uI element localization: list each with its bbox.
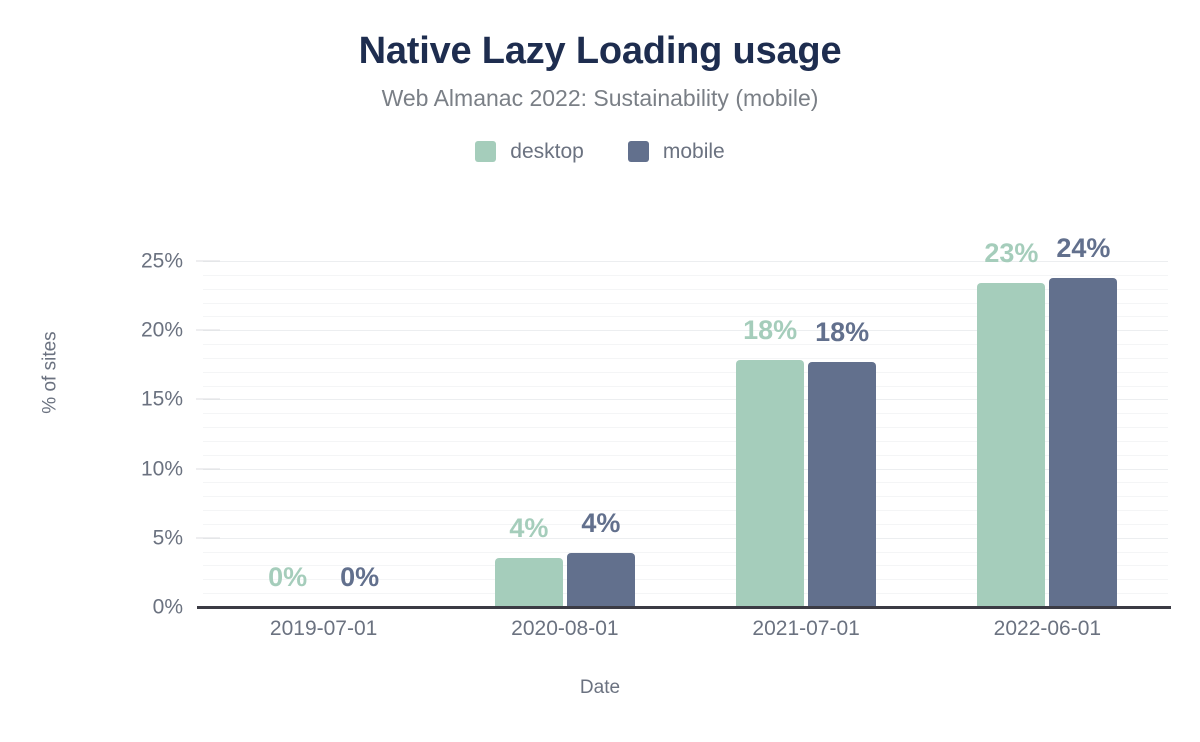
plot-area: 0%0%4%4%18%18%23%24%: [203, 261, 1168, 607]
bar-label-desktop-2022-06-01: 23%: [984, 240, 1038, 267]
y-axis-title: % of sites: [41, 303, 60, 443]
y-tick-label: 5%: [63, 527, 183, 548]
y-tick-label: 25%: [63, 251, 183, 272]
y-tick-mark: [196, 537, 220, 538]
x-tick-label: 2022-06-01: [994, 618, 1101, 639]
x-tick-label: 2021-07-01: [752, 618, 859, 639]
y-tick-label: 10%: [63, 458, 183, 479]
bar-label-mobile-2022-06-01: 24%: [1056, 235, 1110, 262]
y-tick-label: 20%: [63, 320, 183, 341]
x-axis-line: [197, 606, 1171, 609]
legend-item-mobile[interactable]: mobile: [628, 141, 725, 162]
legend-swatch-mobile: [628, 141, 649, 162]
bar-mobile-2020-08-01[interactable]: [567, 553, 635, 607]
bar-label-desktop-2020-08-01: 4%: [509, 515, 548, 542]
bar-label-desktop-2021-07-01: 18%: [743, 317, 797, 344]
x-tick-label: 2019-07-01: [270, 618, 377, 639]
page-title: Native Lazy Loading usage: [0, 0, 1200, 74]
x-tick-label: 2020-08-01: [511, 618, 618, 639]
chart-legend: desktop mobile: [0, 141, 1200, 162]
x-axis-title: Date: [0, 678, 1200, 697]
y-tick-mark: [196, 261, 220, 262]
bar-desktop-2021-07-01[interactable]: [736, 360, 804, 607]
y-tick-mark: [196, 399, 220, 400]
legend-swatch-desktop: [475, 141, 496, 162]
bar-mobile-2021-07-01[interactable]: [808, 362, 876, 607]
bar-label-mobile-2019-07-01: 0%: [340, 564, 379, 591]
bar-mobile-2022-06-01[interactable]: [1049, 278, 1117, 607]
bar-desktop-2020-08-01[interactable]: [495, 558, 563, 607]
y-tick-mark: [196, 468, 220, 469]
bar-label-desktop-2019-07-01: 0%: [268, 564, 307, 591]
bar-label-mobile-2021-07-01: 18%: [815, 319, 869, 346]
chart-subtitle: Web Almanac 2022: Sustainability (mobile…: [0, 74, 1200, 111]
legend-label-mobile: mobile: [663, 141, 725, 162]
y-tick-label: 15%: [63, 389, 183, 410]
y-tick-label: 0%: [63, 597, 183, 618]
legend-item-desktop[interactable]: desktop: [475, 141, 584, 162]
bar-desktop-2022-06-01[interactable]: [977, 283, 1045, 607]
bar-label-mobile-2020-08-01: 4%: [581, 510, 620, 537]
chart-header: Native Lazy Loading usage Web Almanac 20…: [0, 0, 1200, 111]
y-tick-mark: [196, 330, 220, 331]
gridline-minor: [203, 275, 1168, 276]
legend-label-desktop: desktop: [510, 141, 584, 162]
